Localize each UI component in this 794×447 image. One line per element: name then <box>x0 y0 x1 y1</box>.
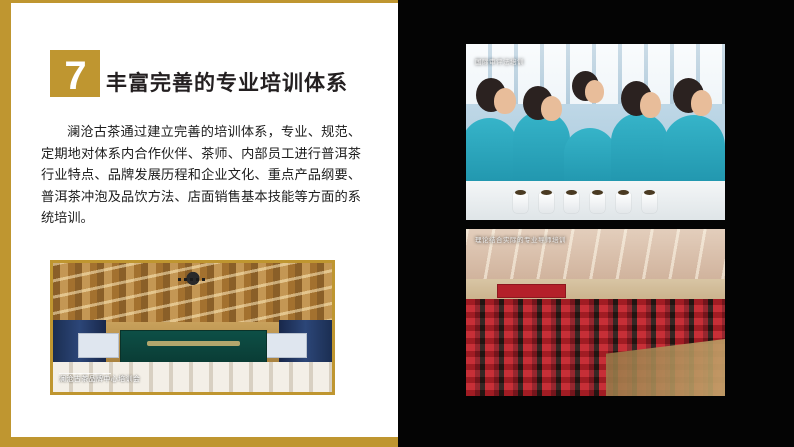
tasting-cup <box>642 193 657 213</box>
tasting-cup <box>564 193 579 213</box>
hall-screen-right <box>266 333 307 358</box>
gold-bottom-accent-bar <box>11 437 398 447</box>
lecture-hall-banner <box>497 284 566 298</box>
trainee-face <box>541 96 562 121</box>
photo-mentor-training: 理论结合实际的专业导师培训 <box>466 229 725 396</box>
slide-root: 7 丰富完善的专业培训体系 澜沧古茶通过建立完善的培训体系，专业、规范、定期地对… <box>0 0 794 447</box>
gold-left-accent-bar <box>0 0 11 447</box>
photo-international-review-image <box>466 44 725 220</box>
photo-caption-mentor-training: 理论结合实际的专业导师培训 <box>475 234 566 244</box>
trainees-group <box>466 69 725 192</box>
photo-caption-brand-center: 澜沧古茶品牌中心培训会 <box>59 374 140 384</box>
trainee-face <box>585 80 604 103</box>
page-title: 丰富完善的专业培训体系 <box>106 73 348 97</box>
trainee-body <box>611 113 668 192</box>
section-heading: 7 丰富完善的专业培训体系 <box>50 50 348 97</box>
photo-brand-center-training: 澜沧古茶品牌中心培训会 <box>50 260 335 395</box>
section-number-box: 7 <box>50 50 100 97</box>
trainee-face <box>691 90 712 116</box>
body-paragraph: 澜沧古茶通过建立完善的培训体系，专业、规范、定期地对体系内合作伙伴、茶师、内部员… <box>41 122 361 230</box>
tasting-cup <box>513 193 528 213</box>
hall-stage-backdrop <box>120 330 267 364</box>
trainee-face <box>494 88 516 114</box>
photo-mentor-training-image <box>466 229 725 396</box>
section-number: 7 <box>64 57 85 97</box>
tasting-cup <box>616 193 631 213</box>
photo-caption-international-review: 国际审评法培训 <box>475 56 524 66</box>
chandelier-icon <box>178 268 208 294</box>
trainee-face <box>640 92 661 118</box>
trainee-body <box>513 111 570 192</box>
photo-international-review-training: 国际审评法培训 <box>466 44 725 220</box>
gold-top-accent-line <box>11 0 398 3</box>
tasting-cup <box>539 193 554 213</box>
hall-screen-left <box>78 333 119 358</box>
tasting-cup <box>590 193 605 213</box>
